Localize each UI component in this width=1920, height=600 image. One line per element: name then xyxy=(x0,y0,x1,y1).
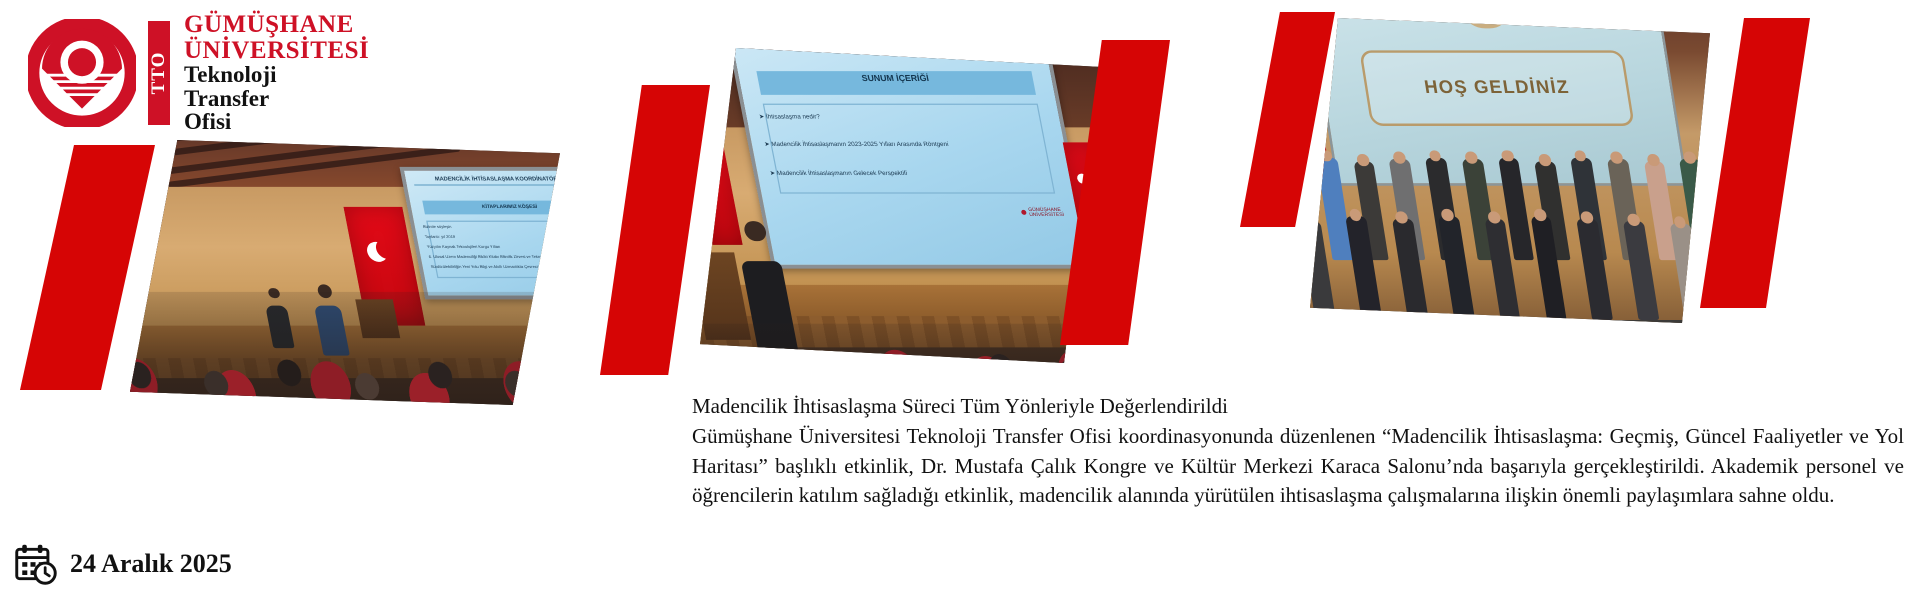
brand-wordmark: GÜMÜŞHANE ÜNİVERSİTESİ Teknoloji Transfe… xyxy=(184,12,369,133)
person xyxy=(1530,217,1567,320)
tto-label: TTO xyxy=(148,52,170,95)
logo-ring-icon xyxy=(1021,210,1027,215)
projection-screen: MADENCİLİK İHTİSASLAŞMA KOORDİNATÖRLÜĞÜ … xyxy=(400,166,560,299)
red-accent-shape-2 xyxy=(600,85,710,375)
audience-heads xyxy=(700,339,1100,363)
group-front-row xyxy=(1310,208,1710,320)
tto-vertical-bar: TTO xyxy=(148,21,170,125)
slide-bullet: Sürdürülebilirliğin Yeni Yolu Bilgi ve A… xyxy=(430,264,560,269)
audience-heads xyxy=(130,326,560,405)
slide-band: SUNUM İÇERİĞİ xyxy=(756,71,1036,95)
welcome-text: HOŞ GELDİNİZ xyxy=(1322,77,1672,98)
slide-bullet: Bizimle söyleşin xyxy=(422,224,451,229)
slide-bullet: 6. Ulusal Uzem Madenciliği Bildiri Kitab… xyxy=(428,254,560,259)
slide-title: İHTİSASLAŞMA KOORDİNATÖRLÜĞÜ xyxy=(744,48,1034,49)
slide-bullet: ➤ Madencilik İhtisaslaşmanın Gelecek Per… xyxy=(769,170,908,178)
person xyxy=(1484,219,1520,319)
red-accent-shape-4 xyxy=(1240,12,1335,227)
tto-logo-icon xyxy=(1462,18,1508,28)
calendar-clock-icon xyxy=(14,542,58,586)
slide-bullet: Toplantı: yıl 2019 xyxy=(424,234,455,239)
brand-line-ofisi: Ofisi xyxy=(184,110,369,133)
slide-bullet: Yüzyılın Kaynak Teknolojileri Kurgu Yıll… xyxy=(426,244,500,249)
projection-screen: İHTİSASLAŞMA KOORDİNATÖRLÜĞÜ SUNUM İÇERİ… xyxy=(725,48,1092,268)
brand-line-transfer: Transfer xyxy=(184,87,369,110)
brand-line-university-type: ÜNİVERSİTESİ xyxy=(184,38,369,64)
article-headline: Madencilik İhtisaslaşma Süreci Tüm Yönle… xyxy=(692,392,1904,422)
person xyxy=(1623,221,1659,319)
slide-bullet: ➤ Madencilik İhtisaslaşmanın 2023-2025 Y… xyxy=(764,142,950,150)
slide-band: KİTAPLARIMIZ KÖŞESİ xyxy=(422,200,560,214)
person xyxy=(1310,164,1316,260)
university-emblem-icon xyxy=(28,19,136,127)
red-accent-shape-1 xyxy=(20,145,155,390)
red-accent-shape-5 xyxy=(1700,18,1810,308)
date-label: 24 Aralık 2025 xyxy=(70,549,232,579)
brand-line-teknoloji: Teknoloji xyxy=(184,63,369,86)
person xyxy=(1392,219,1428,319)
photo-group-portrait: HOŞ GELDİNİZ xyxy=(1310,18,1710,323)
photo-speaker-presentation: İHTİSASLAŞMA KOORDİNATÖRLÜĞÜ SUNUM İÇERİ… xyxy=(700,48,1100,363)
person xyxy=(1577,219,1613,319)
person xyxy=(1670,223,1706,319)
article-body: Gümüşhane Üniversitesi Teknoloji Transfe… xyxy=(692,422,1904,511)
person xyxy=(1345,217,1382,320)
slide-bullet: ➤ İhtisaslaşma nedir? xyxy=(758,113,820,121)
publication-date: 24 Aralık 2025 xyxy=(14,542,232,586)
slide-university-logo: GÜMÜŞHANE ÜNİVERSİTESİ xyxy=(1015,182,1068,244)
article-text-block: Madencilik İhtisaslaşma Süreci Tüm Yönle… xyxy=(692,392,1904,511)
brand-line-university-name: GÜMÜŞHANE xyxy=(184,12,369,38)
slide-title: MADENCİLİK İHTİSASLAŞMA KOORDİNATÖRLÜĞÜ xyxy=(413,175,560,185)
photo-auditorium-audience: MADENCİLİK İHTİSASLAŞMA KOORDİNATÖRLÜĞÜ … xyxy=(130,140,560,405)
person xyxy=(1438,217,1475,320)
person xyxy=(1310,221,1336,319)
brand-logo[interactable]: TTO GÜMÜŞHANE ÜNİVERSİTESİ Teknoloji Tra… xyxy=(28,8,358,138)
stage-floor xyxy=(1310,319,1710,323)
